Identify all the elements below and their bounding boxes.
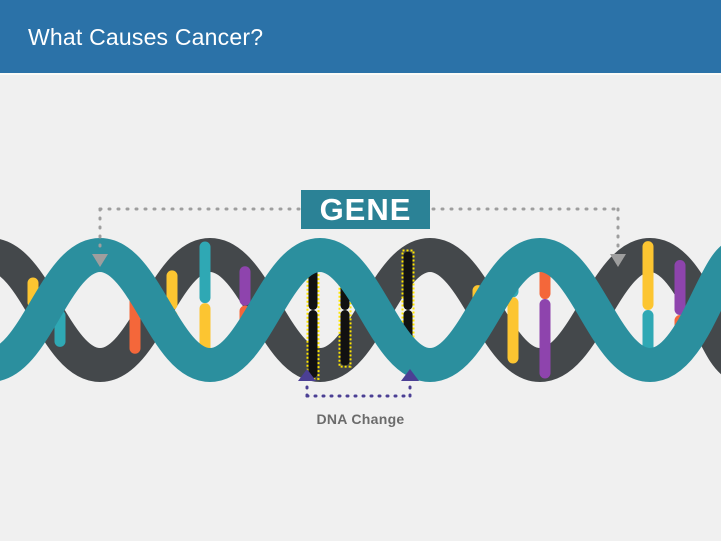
gene-label-text: GENE [320,194,412,225]
dna-helix-illustration [0,75,721,541]
dna-change-label: DNA Change [0,411,721,427]
slide-canvas: What Causes Cancer? [0,0,721,541]
page-title: What Causes Cancer? [28,24,263,51]
diagram-area: GENE DNA Change [0,75,721,541]
gene-label-badge: GENE [301,190,430,229]
